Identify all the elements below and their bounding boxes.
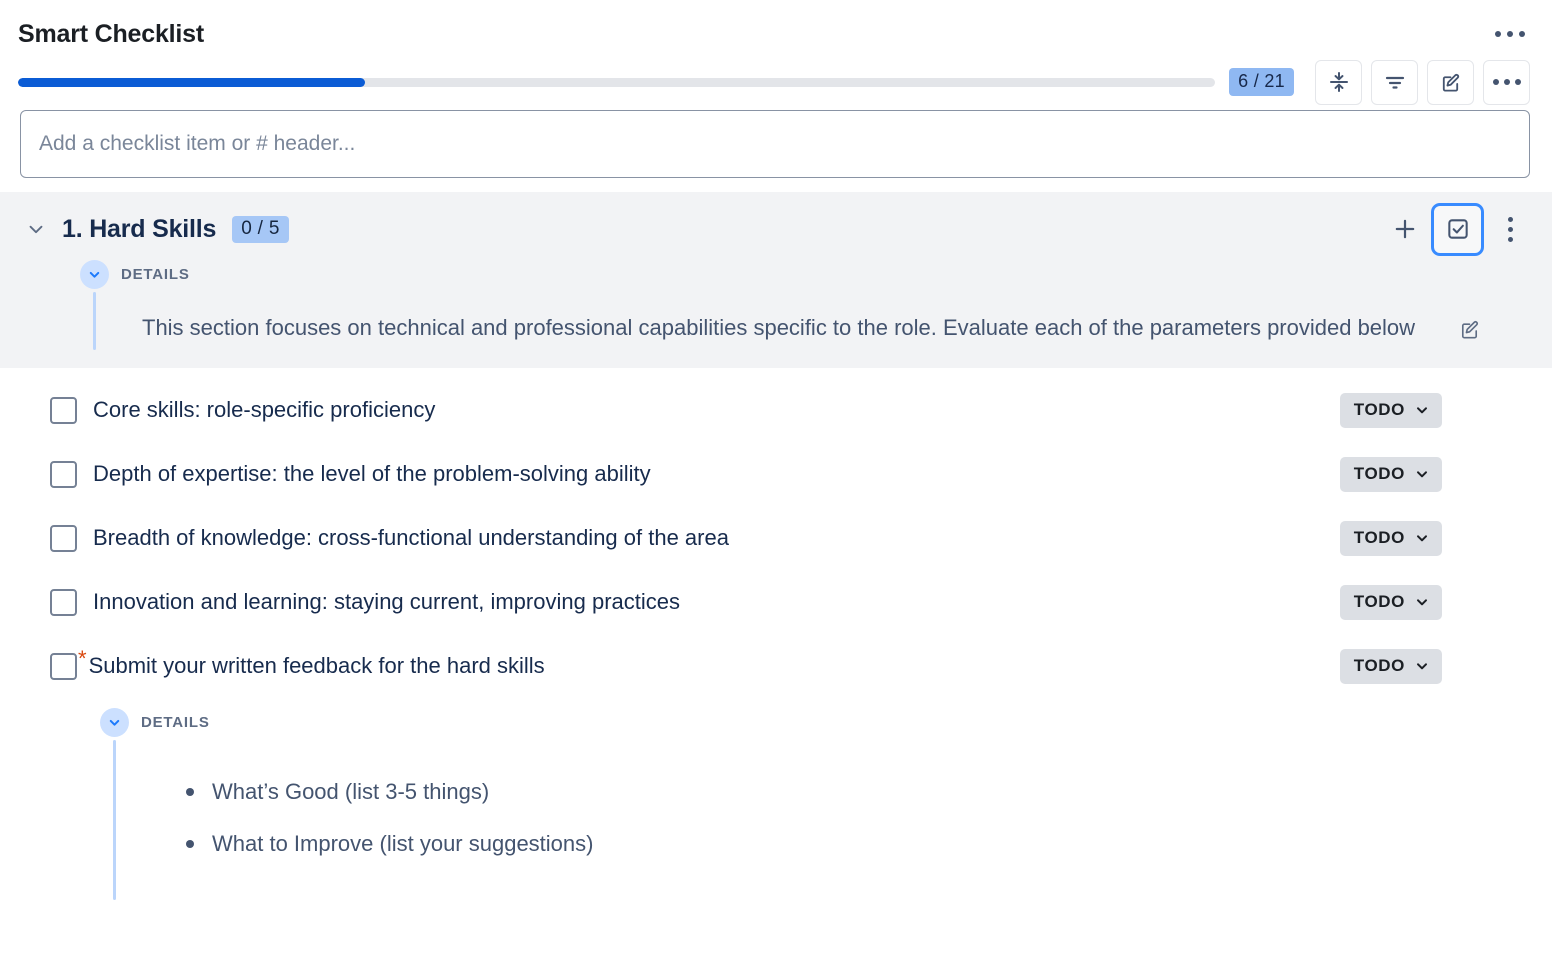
bullet-dot-icon [186, 788, 194, 796]
item-details-bullets: What’s Good (list 3-5 things)What to Imp… [100, 740, 1552, 870]
item-checkbox[interactable] [50, 461, 77, 488]
item-checkbox[interactable] [50, 397, 77, 424]
section-title: 1. Hard Skills [62, 215, 216, 244]
checkbox-checked-icon [1445, 216, 1471, 242]
item-status-label: TODO [1354, 400, 1405, 420]
edit-pencil-icon[interactable] [1452, 312, 1486, 346]
item-status-label: TODO [1354, 656, 1405, 676]
add-item-button[interactable] [1385, 209, 1425, 249]
details-connector-line [113, 740, 116, 900]
item-label[interactable]: Breadth of knowledge: cross-functional u… [93, 525, 729, 551]
chevron-down-icon [1414, 594, 1430, 610]
checklist-item-row: Breadth of knowledge: cross-functional u… [18, 506, 1530, 570]
item-details: DETAILS What’s Good (list 3-5 things)Wha… [0, 704, 1552, 870]
chevron-down-icon[interactable] [80, 260, 109, 289]
add-checkbox-item-button[interactable] [1431, 203, 1484, 256]
section-details-text: This section focuses on technical and pr… [142, 306, 1415, 350]
filter-funnel-icon [1383, 70, 1407, 94]
page-title: Smart Checklist [18, 20, 204, 49]
progress-bar [18, 78, 1215, 87]
smart-checklist-panel: Smart Checklist 6 / 21 [0, 0, 1552, 966]
details-label: DETAILS [121, 266, 190, 283]
add-item-wrapper [0, 102, 1552, 178]
item-checkbox[interactable] [50, 525, 77, 552]
chevron-down-icon[interactable] [100, 708, 129, 737]
bullet-text: What’s Good (list 3-5 things) [212, 766, 489, 818]
progress-toolbar: 6 / 21 [0, 56, 1552, 102]
bullet-dot-icon [186, 840, 194, 848]
bullet-text: What to Improve (list your suggestions) [212, 818, 593, 870]
checklist-item-row: Core skills: role-specific proficiencyTO… [18, 378, 1530, 442]
chevron-down-icon [1414, 658, 1430, 674]
item-status-dropdown[interactable]: TODO [1340, 649, 1442, 684]
chevron-down-icon [1414, 402, 1430, 418]
item-details-header: DETAILS [100, 704, 1552, 740]
section-details-body: This section focuses on technical and pr… [80, 292, 1552, 350]
bullet-list-item: What to Improve (list your suggestions) [186, 818, 1552, 870]
section-header: 1. Hard Skills 0 / 5 [0, 200, 1552, 256]
item-status-dropdown[interactable]: TODO [1340, 393, 1442, 428]
filter-button[interactable] [1371, 60, 1418, 105]
kebab-horizontal-icon[interactable] [1490, 19, 1530, 49]
item-status-label: TODO [1354, 592, 1405, 612]
checklist-item-row: Innovation and learning: staying current… [18, 570, 1530, 634]
item-label[interactable]: Submit your written feedback for the har… [89, 653, 545, 679]
section-details-header: DETAILS [80, 256, 1552, 292]
checklist-items: Core skills: role-specific proficiencyTO… [0, 368, 1552, 698]
item-status-dropdown[interactable]: TODO [1340, 585, 1442, 620]
kebab-vertical-icon [1508, 217, 1513, 242]
bullet-list-item: What’s Good (list 3-5 things) [186, 766, 1552, 818]
required-marker: * [78, 648, 87, 670]
item-label[interactable]: Innovation and learning: staying current… [93, 589, 680, 615]
collapse-all-button[interactable] [1315, 60, 1362, 105]
item-checkbox[interactable] [50, 589, 77, 616]
collapse-vertical-icon [1327, 70, 1351, 94]
chevron-down-icon [1414, 466, 1430, 482]
progress-bar-fill [18, 78, 365, 87]
item-status-label: TODO [1354, 464, 1405, 484]
checklist-item-row: Depth of expertise: the level of the pro… [18, 442, 1530, 506]
item-status-dropdown[interactable]: TODO [1340, 521, 1442, 556]
section-menu-button[interactable] [1490, 209, 1530, 249]
chevron-down-icon [1414, 530, 1430, 546]
edit-button[interactable] [1427, 60, 1474, 105]
more-options-button[interactable] [1483, 60, 1530, 105]
details-connector-line [93, 292, 96, 350]
edit-pencil-icon [1439, 71, 1462, 94]
checklist-section: 1. Hard Skills 0 / 5 [0, 192, 1552, 368]
item-label[interactable]: Core skills: role-specific proficiency [93, 397, 435, 423]
item-checkbox[interactable] [50, 653, 77, 680]
panel-header: Smart Checklist [0, 0, 1552, 56]
section-details: DETAILS This section focuses on technica… [0, 256, 1552, 350]
item-label[interactable]: Depth of expertise: the level of the pro… [93, 461, 651, 487]
chevron-down-icon[interactable] [22, 215, 50, 243]
section-count-badge: 0 / 5 [232, 216, 288, 243]
details-label: DETAILS [141, 714, 210, 731]
add-checklist-item-input[interactable] [20, 110, 1530, 178]
progress-count-badge: 6 / 21 [1229, 68, 1294, 96]
item-status-dropdown[interactable]: TODO [1340, 457, 1442, 492]
section-actions [1385, 203, 1530, 256]
checklist-item-row: *Submit your written feedback for the ha… [18, 634, 1530, 698]
item-status-label: TODO [1354, 528, 1405, 548]
plus-icon [1391, 215, 1419, 243]
kebab-horizontal-icon [1493, 79, 1521, 85]
